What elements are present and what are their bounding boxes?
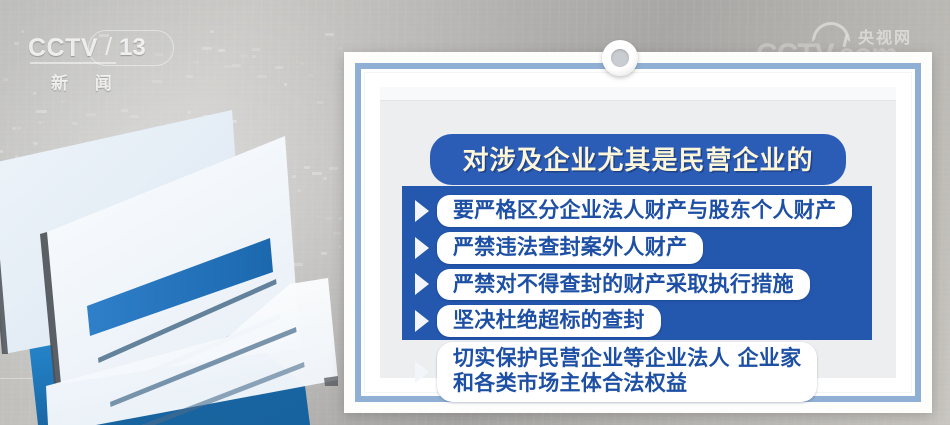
background-fleck	[333, 232, 340, 235]
background-fleck	[325, 217, 333, 220]
play-arrow-icon	[412, 198, 431, 224]
bullet-list-item: 严禁违法查封案外人财产	[412, 232, 862, 264]
background-fleck	[174, 181, 183, 184]
background-fleck	[339, 217, 342, 220]
bullet-list-item: 严禁对不得查封的财产采取执行措施	[412, 269, 862, 301]
background-fleck	[24, 222, 34, 225]
background-fleck	[255, 254, 264, 257]
background-fleck	[298, 299, 302, 302]
background-fleck	[218, 186, 227, 189]
background-fleck	[139, 42, 143, 45]
background-fleck	[12, 127, 15, 130]
background-fleck	[193, 61, 199, 64]
background-fleck	[277, 157, 281, 160]
background-fleck	[260, 195, 262, 198]
background-fleck	[96, 256, 105, 259]
background-fleck	[121, 109, 129, 112]
background-fleck	[136, 194, 140, 197]
background-fleck	[224, 190, 227, 193]
background-fleck	[292, 175, 295, 178]
background-fleck	[86, 113, 96, 116]
background-fleck	[215, 224, 219, 227]
background-data-flecks	[0, 30, 360, 320]
channel-bug-underline	[30, 62, 116, 64]
background-fleck	[235, 157, 243, 160]
channel-bug-ring	[88, 30, 174, 66]
background-fleck	[154, 53, 163, 56]
background-fleck	[240, 54, 247, 57]
background-fleck	[168, 142, 177, 145]
panel-content-area: 对涉及企业尤其是民营企业的 要严格区分企业法人财产与股东个人财产严禁违法查封案外…	[380, 87, 896, 378]
background-fleck	[106, 228, 109, 231]
circular-pin-icon	[602, 40, 638, 76]
cctv13-channel-bug: CCTV / 13 新 闻	[28, 33, 178, 95]
background-fleck	[317, 101, 323, 104]
background-fleck	[21, 311, 26, 314]
background-fleck	[211, 226, 221, 229]
background-fleck	[297, 189, 301, 192]
background-fleck	[52, 219, 57, 222]
background-fleck	[204, 131, 212, 134]
play-arrow-icon	[412, 359, 431, 385]
background-fleck	[210, 30, 215, 33]
background-fleck	[252, 55, 255, 58]
panel-top-strip	[380, 87, 896, 101]
background-fleck	[195, 180, 198, 183]
panel-blue-frame: 对涉及企业尤其是民营企业的 要严格区分企业法人财产与股东个人财产严禁违法查封案外…	[355, 63, 921, 402]
background-fleck	[252, 48, 260, 51]
background-fleck	[36, 110, 47, 113]
bullet-item-text: 严禁违法查封案外人财产	[437, 232, 703, 264]
background-fleck	[224, 65, 234, 68]
background-fleck	[201, 180, 207, 183]
bullet-list-item: 要严格区分企业法人财产与股东个人财产	[412, 195, 862, 227]
background-fleck	[33, 55, 39, 58]
background-fleck	[293, 263, 303, 266]
background-fleck	[207, 249, 214, 252]
background-fleck	[312, 172, 322, 175]
background-fleck	[84, 224, 95, 227]
bullet-list-item: 坚决杜绝超标的查封	[412, 305, 862, 337]
background-fleck	[204, 161, 208, 164]
background-fleck	[75, 160, 84, 163]
background-fleck	[309, 296, 319, 299]
background-fleck	[323, 177, 327, 180]
background-fleck	[229, 181, 239, 184]
background-fleck	[17, 127, 21, 130]
channel-bug-network: CCTV	[28, 36, 98, 61]
cctv-arc-tail-icon	[842, 34, 848, 47]
headline-container: 对涉及企业尤其是民营企业的	[380, 134, 896, 185]
background-fleck	[69, 284, 72, 287]
background-fleck	[25, 197, 33, 200]
bullet-item-text: 坚决杜绝超标的查封	[437, 305, 661, 337]
background-fleck	[99, 34, 109, 37]
panel-headline: 对涉及企业尤其是民营企业的	[430, 134, 845, 185]
background-fleck	[35, 60, 37, 63]
background-fleck	[217, 189, 227, 192]
background-fleck	[308, 74, 313, 77]
background-fleck	[188, 111, 192, 114]
document-folder-illustration	[0, 86, 340, 425]
background-fleck	[257, 75, 267, 78]
background-fleck	[41, 272, 48, 275]
background-fleck	[275, 66, 282, 69]
background-fleck	[3, 78, 8, 81]
background-fleck	[181, 311, 188, 314]
background-fleck	[30, 237, 39, 240]
background-fleck	[321, 252, 328, 255]
background-fleck	[329, 167, 338, 170]
background-fleck	[61, 100, 66, 103]
background-fleck	[189, 296, 195, 299]
background-fleck	[186, 75, 192, 78]
background-fleck	[94, 194, 101, 197]
background-fleck	[300, 62, 304, 65]
background-fleck	[50, 38, 58, 41]
broadcast-frame: CCTV / 13 新 闻 央视网 CCTV.com	[0, 0, 950, 425]
background-fleck	[33, 92, 36, 95]
background-fleck	[337, 70, 341, 73]
background-fleck	[325, 33, 335, 36]
background-fleck	[38, 121, 42, 124]
background-fleck	[245, 308, 249, 311]
bullet-item-text: 严禁对不得查封的财产采取执行措施	[437, 269, 810, 301]
background-fleck	[54, 201, 61, 204]
background-fleck	[235, 155, 243, 158]
background-fleck	[33, 142, 38, 145]
channel-bug-subtitle: 新 闻	[51, 69, 123, 94]
background-fleck	[338, 47, 343, 50]
background-fleck	[65, 161, 70, 164]
background-fleck	[15, 155, 18, 158]
background-fleck	[202, 47, 212, 50]
background-fleck	[152, 80, 161, 83]
background-fleck	[115, 242, 125, 245]
background-fleck	[339, 245, 341, 248]
background-fleck	[266, 252, 276, 255]
background-fleck	[219, 291, 229, 294]
background-fleck	[0, 150, 3, 153]
background-fleck	[304, 166, 310, 169]
channel-bug-divider: /	[105, 35, 112, 60]
background-fleck	[21, 30, 24, 33]
background-fleck	[232, 64, 241, 67]
background-fleck	[203, 115, 210, 118]
background-fleck	[92, 313, 100, 316]
play-arrow-icon	[412, 235, 431, 261]
cctv-arc-logo-icon	[812, 22, 850, 42]
play-arrow-icon	[412, 271, 431, 297]
background-fleck	[220, 225, 227, 228]
watermark-chinese-label: 央视网	[858, 24, 912, 48]
background-fleck	[25, 314, 29, 317]
background-fleck	[130, 115, 139, 118]
background-fleck	[317, 215, 319, 218]
info-panel: 对涉及企业尤其是民营企业的 要严格区分企业法人财产与股东个人财产严禁违法查封案外…	[344, 52, 932, 413]
background-fleck	[218, 49, 225, 52]
play-arrow-icon	[412, 308, 431, 334]
background-fleck	[195, 148, 200, 151]
background-fleck	[132, 197, 142, 200]
background-floor-line	[0, 378, 330, 379]
pin-inner-circle	[611, 49, 629, 67]
bullet-item-text: 要严格区分企业法人财产与股东个人财产	[437, 195, 852, 227]
background-fleck	[279, 184, 286, 187]
background-fleck	[283, 220, 291, 223]
bullet-item-text: 切实保护民营企业等企业法人 企业家 和各类市场主体合法权益	[437, 342, 817, 402]
background-fleck	[14, 42, 19, 45]
background-fleck	[284, 83, 288, 86]
background-fleck	[230, 120, 237, 123]
bullet-list-item: 切实保护民营企业等企业法人 企业家 和各类市场主体合法权益	[412, 342, 862, 402]
background-fleck	[72, 122, 78, 125]
bullet-list: 要严格区分企业法人财产与股东个人财产严禁违法查封案外人财产严禁对不得查封的财产采…	[402, 186, 872, 340]
background-fleck	[37, 270, 44, 273]
background-fleck	[46, 219, 55, 222]
background-fleck	[318, 277, 325, 280]
background-fleck	[261, 153, 266, 156]
channel-bug-number: 13	[119, 36, 146, 60]
